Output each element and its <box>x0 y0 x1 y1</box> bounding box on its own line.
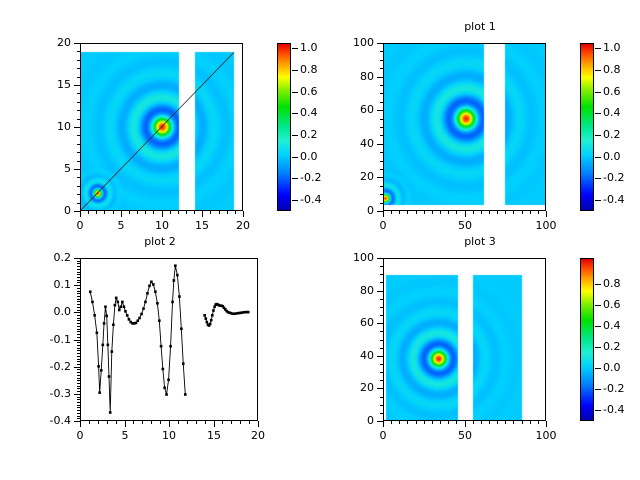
axis-tick-label: 15 <box>35 78 71 91</box>
axis-tick <box>380 315 383 316</box>
axis-tick <box>77 334 80 335</box>
axis-tick <box>380 274 383 275</box>
axis-tick <box>202 211 203 214</box>
axis-tick <box>391 211 392 214</box>
axis-tick <box>77 301 80 302</box>
axis-tick <box>448 211 449 214</box>
colorbar-tick <box>595 347 601 348</box>
axis-tick <box>77 326 80 327</box>
axis-tick <box>162 211 163 214</box>
axis-tick <box>77 304 80 305</box>
axis-tick <box>77 359 80 360</box>
colorbar-tick-label: -0.4 <box>300 193 321 206</box>
axis-tick-label: 80 <box>338 284 374 297</box>
axis-tick <box>77 110 80 111</box>
axis-tick <box>380 211 383 212</box>
axis-tick <box>380 110 383 111</box>
colorbar-tick <box>292 178 298 179</box>
axis-tick <box>538 211 539 214</box>
axis-tick-label: 100 <box>526 219 566 232</box>
axis-tick <box>145 211 146 214</box>
axis-tick <box>77 261 80 262</box>
axis-tick <box>169 421 170 424</box>
axis-tick <box>77 397 80 398</box>
axis-tick <box>77 410 80 411</box>
panel-top-left-transect-line <box>81 44 242 210</box>
colorbar-tick-label: 0.6 <box>300 85 318 98</box>
axis-tick <box>380 380 383 381</box>
colorbar-tick <box>595 305 601 306</box>
axis-tick-label: 15 <box>182 219 222 232</box>
colorbar-tick <box>595 92 601 93</box>
axis-tick <box>424 211 425 214</box>
axis-tick <box>530 211 531 214</box>
colorbar-tick-label: 0.2 <box>603 340 621 353</box>
axis-tick <box>383 211 384 214</box>
axis-tick-label: 0.2 <box>35 251 71 264</box>
axis-tick <box>546 211 547 214</box>
axis-tick <box>77 361 80 362</box>
axis-tick <box>178 211 179 214</box>
axis-tick <box>380 413 383 414</box>
axis-tick-label: 0 <box>363 429 403 442</box>
axis-tick <box>380 152 383 153</box>
axis-tick <box>77 93 80 94</box>
axis-tick <box>489 211 490 214</box>
axis-tick <box>380 93 383 94</box>
axis-tick <box>77 356 80 357</box>
colorbar-tick <box>595 70 601 71</box>
panel-bottom-left-plot-frame <box>80 258 258 421</box>
axis-tick <box>505 211 506 214</box>
axis-tick <box>170 211 171 214</box>
axis-tick <box>227 211 228 214</box>
axis-tick <box>522 211 523 214</box>
axis-tick-label: 0 <box>338 414 374 427</box>
colorbar-tick <box>292 92 298 93</box>
axis-tick-label: 10 <box>35 120 71 133</box>
colorbar-tick-label: -0.4 <box>603 193 624 206</box>
axis-tick <box>77 386 80 387</box>
panel-top-left-plot-frame <box>80 43 243 211</box>
colorbar-tick-label: -0.2 <box>603 382 624 395</box>
axis-tick <box>77 369 80 370</box>
axis-tick-label: 100 <box>338 36 374 49</box>
axis-tick <box>77 413 80 414</box>
axis-tick-label: 50 <box>445 219 485 232</box>
colorbar-tick <box>595 113 601 114</box>
axis-tick <box>249 421 250 424</box>
axis-tick <box>77 320 80 321</box>
axis-tick-label: 0 <box>363 219 403 232</box>
axis-tick <box>77 211 80 212</box>
panel-bottom-right-colorbar <box>580 258 594 421</box>
axis-tick-label: 20 <box>338 170 374 183</box>
axis-tick <box>77 272 80 273</box>
axis-tick <box>77 119 80 120</box>
axis-tick <box>380 119 383 120</box>
axis-tick <box>77 291 80 292</box>
axis-tick <box>240 421 241 424</box>
axis-tick <box>153 211 154 214</box>
axis-tick <box>77 364 80 365</box>
axis-tick <box>151 421 152 424</box>
axis-tick <box>77 299 80 300</box>
axis-tick <box>77 380 80 381</box>
axis-tick <box>125 421 126 424</box>
axis-tick <box>473 211 474 214</box>
axis-tick <box>89 421 90 424</box>
axis-tick-label: 80 <box>338 70 374 83</box>
axis-tick <box>77 186 80 187</box>
axis-tick-label: -0.4 <box>35 414 71 427</box>
axis-tick <box>456 211 457 214</box>
axis-tick-label: 50 <box>445 429 485 442</box>
axis-tick <box>383 421 384 424</box>
axis-tick-label: 0 <box>338 204 374 217</box>
axis-tick <box>88 211 89 214</box>
axis-tick <box>77 307 80 308</box>
axis-tick <box>77 342 80 343</box>
axis-tick <box>77 203 80 204</box>
axis-tick <box>416 421 417 424</box>
axis-tick-label: 0 <box>60 219 100 232</box>
axis-tick <box>77 388 80 389</box>
colorbar-tick-label: 0.2 <box>603 128 621 141</box>
axis-tick <box>77 318 80 319</box>
axis-tick-label: -0.2 <box>35 360 71 373</box>
axis-tick-label: 40 <box>338 137 374 150</box>
axis-tick-label: 100 <box>526 429 566 442</box>
colorbar-tick-label: 0.8 <box>603 277 621 290</box>
axis-tick <box>380 102 383 103</box>
axis-tick <box>178 421 179 424</box>
axis-tick <box>77 280 80 281</box>
axis-tick <box>380 421 383 422</box>
axis-tick-label: 20 <box>338 381 374 394</box>
axis-tick-label: 0.1 <box>35 278 71 291</box>
colorbar-tick-label: 0.6 <box>603 298 621 311</box>
axis-tick-label: 0 <box>60 429 100 442</box>
axis-tick-label: 15 <box>194 429 234 442</box>
axis-tick <box>77 274 80 275</box>
axis-tick <box>77 266 80 267</box>
axis-tick <box>380 266 383 267</box>
axis-tick <box>380 397 383 398</box>
colorbar-tick <box>292 70 298 71</box>
panel-top-right-plot-frame <box>383 43 546 211</box>
axis-tick <box>513 211 514 214</box>
axis-tick <box>538 421 539 424</box>
colorbar-tick <box>595 135 601 136</box>
axis-tick <box>380 68 383 69</box>
axis-tick <box>77 418 80 419</box>
axis-tick <box>194 211 195 214</box>
axis-tick <box>80 421 81 424</box>
colorbar-tick-label: -0.4 <box>603 403 624 416</box>
colorbar-tick-label: 0.0 <box>300 150 318 163</box>
colorbar-tick-label: 0.6 <box>603 85 621 98</box>
axis-tick <box>77 288 80 289</box>
axis-tick <box>77 152 80 153</box>
axis-tick <box>380 85 383 86</box>
axis-tick <box>77 296 80 297</box>
axis-tick-label: 60 <box>338 316 374 329</box>
axis-tick <box>530 421 531 424</box>
axis-tick <box>80 211 81 214</box>
axis-tick <box>380 135 383 136</box>
colorbar-tick-label: 0.4 <box>300 106 318 119</box>
colorbar-tick <box>292 200 298 201</box>
axis-tick <box>77 323 80 324</box>
axis-tick <box>77 312 80 313</box>
colorbar-tick <box>292 48 298 49</box>
axis-tick <box>456 421 457 424</box>
axis-tick <box>77 315 80 316</box>
axis-tick <box>380 331 383 332</box>
axis-tick <box>219 211 220 214</box>
axis-tick <box>407 421 408 424</box>
axis-tick <box>77 51 80 52</box>
axis-tick <box>380 323 383 324</box>
axis-tick <box>380 169 383 170</box>
axis-tick <box>222 421 223 424</box>
axis-tick <box>77 277 80 278</box>
axis-tick <box>77 391 80 392</box>
axis-tick <box>505 421 506 424</box>
colorbar-tick-label: 0.8 <box>300 63 318 76</box>
axis-tick <box>77 367 80 368</box>
axis-tick <box>522 421 523 424</box>
panel-bottom-right-heatmap <box>384 259 545 420</box>
axis-tick <box>380 51 383 52</box>
panel-top-left-colorbar <box>277 43 291 211</box>
axis-tick-label: 40 <box>338 349 374 362</box>
axis-tick <box>77 177 80 178</box>
axis-tick <box>205 421 206 424</box>
panel-top-right-title: plot 1 <box>380 20 580 33</box>
axis-tick <box>142 421 143 424</box>
axis-tick <box>77 282 80 283</box>
axis-tick-label: 20 <box>223 219 263 232</box>
axis-tick <box>380 144 383 145</box>
axis-tick <box>473 421 474 424</box>
axis-tick <box>432 211 433 214</box>
axis-tick-label: 100 <box>338 251 374 264</box>
axis-tick <box>380 127 383 128</box>
axis-tick <box>380 364 383 365</box>
colorbar-tick <box>595 326 601 327</box>
axis-tick <box>77 372 80 373</box>
axis-tick-label: 0 <box>35 204 71 217</box>
axis-tick <box>448 421 449 424</box>
axis-tick <box>186 211 187 214</box>
axis-tick-label: 5 <box>35 162 71 175</box>
axis-tick <box>380 299 383 300</box>
axis-tick <box>187 421 188 424</box>
axis-tick-label: 5 <box>105 429 145 442</box>
colorbar-tick-label: 0.4 <box>603 319 621 332</box>
axis-tick <box>416 211 417 214</box>
colorbar-tick-label: 0.0 <box>603 361 621 374</box>
colorbar-tick-label: -0.2 <box>300 171 321 184</box>
axis-tick <box>77 263 80 264</box>
axis-tick <box>77 258 80 259</box>
axis-tick <box>497 211 498 214</box>
axis-tick <box>546 421 547 424</box>
panel-bottom-left-line-chart <box>81 259 257 420</box>
axis-tick <box>98 421 99 424</box>
axis-tick <box>380 282 383 283</box>
axis-tick <box>77 340 80 341</box>
axis-tick <box>77 85 80 86</box>
axis-tick <box>77 405 80 406</box>
axis-tick <box>77 383 80 384</box>
axis-tick <box>210 211 211 214</box>
axis-tick <box>116 421 117 424</box>
axis-tick <box>481 211 482 214</box>
panel-top-right-colorbar <box>580 43 594 211</box>
axis-tick <box>77 353 80 354</box>
colorbar-tick <box>595 284 601 285</box>
axis-tick <box>481 421 482 424</box>
axis-tick <box>77 345 80 346</box>
axis-tick-label: -0.1 <box>35 333 71 346</box>
axis-tick <box>77 394 80 395</box>
axis-tick <box>113 211 114 214</box>
axis-tick <box>77 144 80 145</box>
axis-tick <box>77 285 80 286</box>
axis-tick <box>77 329 80 330</box>
axis-tick <box>497 421 498 424</box>
axis-tick <box>380 356 383 357</box>
axis-tick <box>235 211 236 214</box>
axis-tick-label: -0.3 <box>35 387 71 400</box>
axis-tick <box>380 291 383 292</box>
axis-tick-label: 10 <box>149 429 189 442</box>
colorbar-gradient <box>278 44 290 210</box>
axis-tick <box>121 211 122 214</box>
axis-tick <box>380 388 383 389</box>
axis-tick <box>77 416 80 417</box>
axis-tick <box>380 186 383 187</box>
axis-tick <box>77 194 80 195</box>
colorbar-tick-label: 0.4 <box>603 106 621 119</box>
colorbar-tick-label: 0.0 <box>603 150 621 163</box>
axis-tick <box>380 203 383 204</box>
axis-tick <box>214 421 215 424</box>
colorbar-tick <box>292 135 298 136</box>
panel-bottom-right-plot-frame <box>383 258 546 421</box>
axis-tick <box>432 421 433 424</box>
axis-tick <box>243 211 244 214</box>
axis-tick-label: 20 <box>35 36 71 49</box>
colorbar-tick <box>595 157 601 158</box>
axis-tick <box>77 169 80 170</box>
axis-tick <box>399 211 400 214</box>
axis-tick <box>77 293 80 294</box>
axis-tick <box>196 421 197 424</box>
axis-tick <box>77 350 80 351</box>
axis-tick <box>399 421 400 424</box>
axis-tick-label: 60 <box>338 103 374 116</box>
colorbar-tick <box>292 113 298 114</box>
axis-tick <box>380 258 383 259</box>
axis-tick <box>96 211 97 214</box>
axis-tick <box>129 211 130 214</box>
axis-tick <box>380 372 383 373</box>
axis-tick <box>77 337 80 338</box>
axis-tick <box>77 102 80 103</box>
axis-tick <box>77 127 80 128</box>
axis-tick <box>380 307 383 308</box>
axis-tick <box>380 194 383 195</box>
colorbar-tick <box>595 178 601 179</box>
axis-tick <box>133 421 134 424</box>
axis-tick <box>77 375 80 376</box>
axis-tick <box>160 421 161 424</box>
axis-tick <box>77 407 80 408</box>
colorbar-tick <box>595 200 601 201</box>
axis-tick <box>380 60 383 61</box>
colorbar-tick <box>595 368 601 369</box>
axis-tick <box>137 211 138 214</box>
axis-tick <box>407 211 408 214</box>
axis-tick <box>391 421 392 424</box>
colorbar-gradient <box>581 44 593 210</box>
axis-tick <box>77 348 80 349</box>
axis-tick <box>231 421 232 424</box>
axis-tick-label: 0.0 <box>35 305 71 318</box>
axis-tick <box>489 421 490 424</box>
panel-bottom-right-title: plot 3 <box>380 235 580 248</box>
axis-tick <box>380 348 383 349</box>
axis-tick <box>77 161 80 162</box>
axis-tick <box>77 378 80 379</box>
axis-tick <box>107 421 108 424</box>
colorbar-gradient <box>581 259 593 420</box>
axis-tick <box>77 60 80 61</box>
axis-tick <box>77 77 80 78</box>
axis-tick <box>380 161 383 162</box>
axis-tick-label: 10 <box>142 219 182 232</box>
axis-tick <box>258 421 259 424</box>
axis-tick <box>77 331 80 332</box>
colorbar-tick <box>595 410 601 411</box>
colorbar-tick-label: 0.2 <box>300 128 318 141</box>
colorbar-tick <box>292 157 298 158</box>
axis-tick <box>380 43 383 44</box>
colorbar-tick-label: 1.0 <box>300 41 318 54</box>
colorbar-tick <box>595 389 601 390</box>
axis-tick <box>77 421 80 422</box>
axis-tick <box>424 421 425 424</box>
axis-tick <box>465 211 466 214</box>
colorbar-tick-label: -0.2 <box>603 171 624 184</box>
axis-tick <box>380 340 383 341</box>
axis-tick <box>380 177 383 178</box>
axis-tick-label: 20 <box>238 429 278 442</box>
axis-tick <box>440 421 441 424</box>
axis-tick <box>77 135 80 136</box>
axis-tick <box>465 421 466 424</box>
axis-tick <box>380 77 383 78</box>
colorbar-tick <box>595 48 601 49</box>
axis-tick <box>380 405 383 406</box>
axis-tick-label: 5 <box>101 219 141 232</box>
axis-tick <box>77 402 80 403</box>
axis-tick <box>77 399 80 400</box>
